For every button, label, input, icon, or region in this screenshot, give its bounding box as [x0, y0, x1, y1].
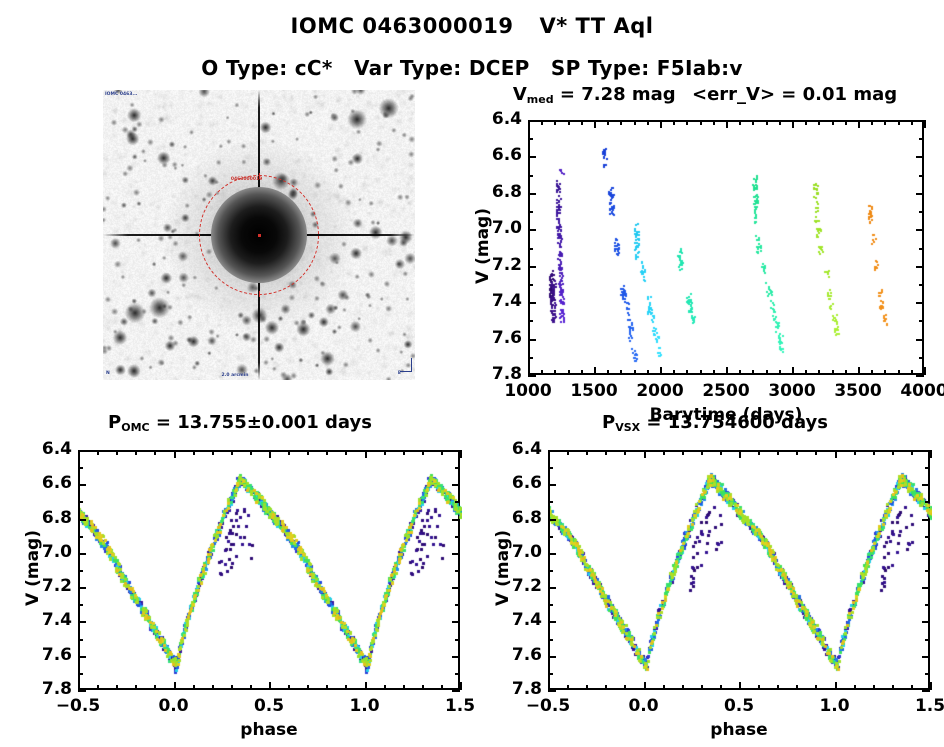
x-tick-mark [739, 682, 741, 690]
x-tick-label: 0.0 [129, 696, 219, 716]
y-minor-tick-right [925, 639, 930, 641]
y-tick-mark-right [922, 587, 930, 589]
x-minor-tick-top [116, 450, 118, 455]
y-minor-tick-right [925, 604, 930, 606]
x-minor-tick-top [567, 450, 569, 455]
y-tick-mark-right [922, 621, 930, 623]
x-minor-tick-top [231, 450, 233, 455]
y-tick-label: 7.0 [490, 542, 542, 562]
y-tick-mark-right [916, 302, 924, 304]
y-tick-mark-right [922, 519, 930, 521]
x-minor-tick [97, 685, 99, 690]
x-tick-mark-top [528, 120, 530, 128]
x-minor-tick-top [713, 120, 715, 125]
x-minor-tick-top [135, 450, 137, 455]
y-minor-tick [548, 536, 553, 538]
x-minor-tick [686, 370, 688, 375]
y-tick-label: 6.8 [470, 182, 522, 202]
y-tick-label: 7.4 [20, 610, 72, 630]
x-tick-mark [548, 682, 550, 690]
x-tick-label: 0.5 [694, 696, 784, 716]
barytime-lightcurve-plot[interactable]: V (mag) Barytime (days) 6.46.66.87.07.27… [470, 110, 944, 400]
y-tick-label: 7.6 [470, 328, 522, 348]
fits-scalebar-label: 2.0 arcmin [222, 373, 249, 378]
x-minor-tick [682, 685, 684, 690]
y-minor-tick [528, 248, 533, 250]
y-minor-tick [78, 501, 83, 503]
y-tick-mark [548, 519, 556, 521]
y-tick-mark [528, 302, 536, 304]
x-tick-mark [594, 367, 596, 375]
x-minor-tick-top [779, 120, 781, 125]
x-minor-tick [720, 685, 722, 690]
sp-type-label: SP Type: [551, 56, 650, 80]
x-minor-tick-top [752, 120, 754, 125]
x-minor-tick [554, 370, 556, 375]
x-minor-tick-top [288, 450, 290, 455]
phase-omc-data-points [80, 452, 462, 692]
x-minor-tick [154, 685, 156, 690]
x-minor-tick-top [212, 450, 214, 455]
orientation-arrow-north [411, 358, 412, 372]
x-minor-tick-top [777, 450, 779, 455]
y-tick-mark [78, 587, 86, 589]
vmed-subscript: med [527, 93, 554, 106]
y-minor-tick-right [455, 673, 460, 675]
y-tick-mark-right [452, 519, 460, 521]
x-minor-tick-top [193, 450, 195, 455]
x-minor-tick [713, 370, 715, 375]
x-minor-tick [607, 370, 609, 375]
fits-north-label: N [106, 371, 110, 376]
x-tick-label: 0.5 [224, 696, 314, 716]
var-type-value: DCEP [469, 56, 530, 80]
y-minor-tick-right [455, 501, 460, 503]
phase-omc-plot[interactable]: V (mag) phase 6.46.66.87.07.27.47.67.8 −… [8, 440, 468, 740]
x-minor-tick [441, 685, 443, 690]
x-minor-tick [581, 370, 583, 375]
x-minor-tick-top [403, 450, 405, 455]
y-minor-tick-right [925, 570, 930, 572]
x-tick-mark-top [858, 120, 860, 128]
x-minor-tick-top [441, 450, 443, 455]
y-tick-mark [548, 656, 556, 658]
x-minor-tick [403, 685, 405, 690]
x-minor-tick-top [326, 450, 328, 455]
phase-omc-plot-frame [78, 450, 460, 690]
x-minor-tick [777, 685, 779, 690]
sp-type-value: F5Iab:v [657, 56, 743, 80]
y-tick-mark-right [916, 193, 924, 195]
x-tick-label: 0.0 [599, 696, 689, 716]
x-tick-label: 4000 [879, 381, 944, 401]
x-minor-tick-top [911, 120, 913, 125]
y-tick-label: 7.2 [20, 576, 72, 596]
x-minor-tick [624, 685, 626, 690]
x-minor-tick-top [422, 450, 424, 455]
pomc-symbol: P [108, 412, 121, 433]
y-minor-tick [528, 211, 533, 213]
y-minor-tick [548, 604, 553, 606]
y-tick-mark-right [916, 375, 924, 377]
y-tick-mark [78, 484, 86, 486]
y-tick-label: 7.6 [20, 645, 72, 665]
x-minor-tick [605, 685, 607, 690]
y-tick-mark [548, 621, 556, 623]
x-tick-mark-top [460, 450, 462, 458]
x-minor-tick-top [647, 120, 649, 125]
x-minor-tick [422, 685, 424, 690]
y-minor-tick-right [455, 536, 460, 538]
o-type-value: cC* [295, 56, 333, 80]
y-tick-label: 7.4 [490, 610, 542, 630]
x-minor-tick [326, 685, 328, 690]
x-minor-tick-top [832, 120, 834, 125]
y-minor-tick [548, 639, 553, 641]
x-minor-tick [250, 685, 252, 690]
y-minor-tick [548, 501, 553, 503]
x-tick-label: 1.0 [790, 696, 880, 716]
y-tick-mark [528, 229, 536, 231]
x-minor-tick-top [634, 120, 636, 125]
y-tick-mark [78, 519, 86, 521]
x-minor-tick-top [250, 450, 252, 455]
x-minor-tick-top [568, 120, 570, 125]
phase-vsx-plot-frame [548, 450, 930, 690]
x-tick-mark-top [174, 450, 176, 458]
lightcurve-data-points [530, 122, 926, 377]
y-minor-tick-right [919, 138, 924, 140]
x-minor-tick [673, 370, 675, 375]
x-minor-tick [911, 370, 913, 375]
x-minor-tick [752, 370, 754, 375]
x-tick-mark-top [924, 120, 926, 128]
x-tick-mark [726, 367, 728, 375]
y-tick-label: 7.6 [490, 645, 542, 665]
x-minor-tick-top [796, 450, 798, 455]
x-minor-tick [884, 370, 886, 375]
y-tick-label: 6.4 [20, 439, 72, 459]
y-tick-mark [548, 553, 556, 555]
x-minor-tick [739, 370, 741, 375]
x-minor-tick-top [739, 120, 741, 125]
y-tick-mark [528, 156, 536, 158]
fits-finder-chart[interactable]: 0463000019 IOMC 0463... 2.0 arcmin N E [103, 90, 415, 380]
vmed-symbol: V [513, 84, 527, 105]
y-minor-tick [528, 175, 533, 177]
x-minor-tick-top [805, 120, 807, 125]
y-tick-mark [528, 266, 536, 268]
o-type-label: O Type: [201, 56, 287, 80]
lightcurve-y-axis-label: V (mag) [473, 186, 493, 306]
x-tick-mark-top [548, 450, 550, 458]
x-minor-tick [116, 685, 118, 690]
x-minor-tick [568, 370, 570, 375]
x-minor-tick [796, 685, 798, 690]
y-minor-tick-right [455, 604, 460, 606]
x-minor-tick [892, 685, 894, 690]
x-minor-tick [541, 370, 543, 375]
y-tick-mark-right [916, 266, 924, 268]
x-tick-mark [930, 682, 932, 690]
y-minor-tick [78, 639, 83, 641]
fits-corner-label: IOMC 0463... [105, 92, 138, 97]
x-minor-tick [586, 685, 588, 690]
y-tick-mark-right [452, 553, 460, 555]
y-tick-mark [528, 339, 536, 341]
x-minor-tick [898, 370, 900, 375]
x-tick-label: 1.0 [320, 696, 410, 716]
pomc-value: = 13.755±0.001 days [156, 412, 372, 433]
x-minor-tick-top [854, 450, 856, 455]
vmed-value: = 7.28 mag [560, 84, 676, 105]
y-tick-mark [548, 484, 556, 486]
y-minor-tick-right [925, 673, 930, 675]
y-tick-label: 6.6 [470, 145, 522, 165]
x-tick-mark [365, 682, 367, 690]
y-tick-mark-right [922, 656, 930, 658]
x-minor-tick-top [884, 120, 886, 125]
x-minor-tick-top [663, 450, 665, 455]
x-minor-tick-top [686, 120, 688, 125]
x-minor-tick [815, 685, 817, 690]
x-tick-mark [78, 682, 80, 690]
x-minor-tick-top [624, 450, 626, 455]
phase-vsx-plot[interactable]: V (mag) phase 6.46.66.87.07.27.47.67.8 −… [478, 440, 940, 740]
y-minor-tick-right [455, 467, 460, 469]
x-minor-tick [701, 685, 703, 690]
y-tick-label: 6.6 [20, 473, 72, 493]
y-minor-tick [78, 467, 83, 469]
x-minor-tick [854, 685, 856, 690]
y-minor-tick [548, 570, 553, 572]
y-tick-label: 6.6 [490, 473, 542, 493]
x-tick-mark-top [835, 450, 837, 458]
x-tick-mark-top [739, 450, 741, 458]
y-tick-mark [78, 621, 86, 623]
x-minor-tick [567, 685, 569, 690]
y-tick-mark-right [452, 450, 460, 452]
x-minor-tick [231, 685, 233, 690]
x-minor-tick [779, 370, 781, 375]
x-tick-label: 1.5 [885, 696, 944, 716]
y-tick-mark [78, 690, 86, 692]
x-tick-label: −0.5 [503, 696, 593, 716]
x-minor-tick [911, 685, 913, 690]
x-tick-mark [644, 682, 646, 690]
x-minor-tick [663, 685, 665, 690]
x-minor-tick [634, 370, 636, 375]
x-minor-tick [193, 685, 195, 690]
lightcurve-plot-frame [528, 120, 924, 375]
x-minor-tick [212, 685, 214, 690]
x-tick-mark [460, 682, 462, 690]
x-tick-mark-top [660, 120, 662, 128]
pomc-subscript: OMC [121, 421, 149, 434]
y-minor-tick-right [925, 501, 930, 503]
x-minor-tick-top [873, 450, 875, 455]
x-tick-mark-top [930, 450, 932, 458]
y-tick-mark [548, 587, 556, 589]
x-minor-tick-top [581, 120, 583, 125]
fits-target-label: 0463000019 [231, 177, 262, 182]
x-minor-tick [135, 685, 137, 690]
x-minor-tick [700, 370, 702, 375]
y-minor-tick [528, 138, 533, 140]
object-classification: O Type: cC* Var Type: DCEP SP Type: F5Ia… [0, 56, 944, 80]
x-minor-tick [873, 685, 875, 690]
y-minor-tick-right [925, 467, 930, 469]
page-title: IOMC 0463000019V* TT Aql [0, 14, 944, 38]
y-tick-mark-right [922, 484, 930, 486]
y-tick-label: 7.0 [470, 218, 522, 238]
y-tick-mark-right [452, 587, 460, 589]
y-tick-mark-right [922, 450, 930, 452]
y-tick-mark-right [922, 553, 930, 555]
y-minor-tick-right [919, 284, 924, 286]
x-minor-tick-top [818, 120, 820, 125]
phase-vsx-x-axis-label: phase [548, 720, 930, 740]
x-tick-mark [924, 367, 926, 375]
x-minor-tick-top [845, 120, 847, 125]
phase-omc-panel-title: POMC = 13.755±0.001 days [20, 412, 460, 433]
y-tick-mark-right [452, 621, 460, 623]
lightcurve-panel-title: Vmed = 7.28 mag <err_V> = 0.01 mag [470, 84, 940, 105]
y-minor-tick-right [925, 536, 930, 538]
x-tick-mark-top [269, 450, 271, 458]
x-minor-tick-top [700, 120, 702, 125]
x-minor-tick-top [758, 450, 760, 455]
x-tick-mark [660, 367, 662, 375]
x-minor-tick-top [898, 120, 900, 125]
x-tick-mark [858, 367, 860, 375]
y-tick-label: 7.2 [470, 255, 522, 275]
y-tick-mark-right [916, 120, 924, 122]
x-minor-tick [647, 370, 649, 375]
x-tick-mark-top [644, 450, 646, 458]
x-minor-tick-top [682, 450, 684, 455]
y-tick-label: 6.8 [490, 508, 542, 528]
y-minor-tick [548, 467, 553, 469]
y-tick-mark [528, 375, 536, 377]
x-minor-tick-top [307, 450, 309, 455]
x-minor-tick [805, 370, 807, 375]
x-minor-tick-top [620, 120, 622, 125]
y-tick-mark [78, 656, 86, 658]
y-tick-mark [528, 193, 536, 195]
phase-omc-x-axis-label: phase [78, 720, 460, 740]
errv-value: <err_V> = 0.01 mag [692, 84, 897, 105]
x-tick-mark [835, 682, 837, 690]
y-minor-tick-right [919, 175, 924, 177]
x-minor-tick [307, 685, 309, 690]
x-minor-tick [288, 685, 290, 690]
x-minor-tick-top [720, 450, 722, 455]
y-tick-label: 7.4 [470, 291, 522, 311]
x-tick-mark-top [726, 120, 728, 128]
y-tick-mark-right [452, 484, 460, 486]
x-tick-mark [269, 682, 271, 690]
x-minor-tick [818, 370, 820, 375]
x-minor-tick-top [673, 120, 675, 125]
y-minor-tick-right [455, 639, 460, 641]
y-tick-mark-right [916, 339, 924, 341]
y-minor-tick [528, 284, 533, 286]
x-tick-mark-top [792, 120, 794, 128]
x-minor-tick-top [892, 450, 894, 455]
x-minor-tick [620, 370, 622, 375]
x-minor-tick [832, 370, 834, 375]
x-minor-tick-top [554, 120, 556, 125]
x-minor-tick [384, 685, 386, 690]
y-minor-tick [78, 536, 83, 538]
x-tick-mark [792, 367, 794, 375]
phase-vsx-data-points [550, 452, 932, 692]
y-tick-mark-right [916, 156, 924, 158]
y-tick-label: 7.2 [490, 576, 542, 596]
y-minor-tick-right [919, 211, 924, 213]
y-tick-label: 7.0 [20, 542, 72, 562]
y-minor-tick [528, 357, 533, 359]
object-name: V* TT Aql [539, 14, 653, 38]
aperture-tick-bottom [259, 291, 260, 297]
x-minor-tick-top [541, 120, 543, 125]
x-tick-mark-top [365, 450, 367, 458]
y-minor-tick [78, 604, 83, 606]
y-minor-tick-right [919, 357, 924, 359]
x-minor-tick [871, 370, 873, 375]
y-minor-tick [78, 673, 83, 675]
x-tick-mark [174, 682, 176, 690]
target-center-marker [258, 234, 261, 237]
y-tick-label: 6.8 [20, 508, 72, 528]
x-minor-tick [766, 370, 768, 375]
y-tick-mark [548, 690, 556, 692]
y-minor-tick [78, 570, 83, 572]
fits-star-field-image: 0463000019 IOMC 0463... 2.0 arcmin N E [103, 90, 415, 380]
x-minor-tick [345, 685, 347, 690]
y-tick-mark-right [452, 656, 460, 658]
y-tick-label: 6.4 [470, 109, 522, 129]
x-minor-tick-top [911, 450, 913, 455]
var-type-label: Var Type: [354, 56, 462, 80]
y-minor-tick-right [919, 320, 924, 322]
y-tick-mark [78, 553, 86, 555]
x-minor-tick-top [97, 450, 99, 455]
y-tick-mark-right [916, 229, 924, 231]
y-tick-label: 6.4 [490, 439, 542, 459]
x-minor-tick-top [701, 450, 703, 455]
x-minor-tick [845, 370, 847, 375]
x-minor-tick-top [605, 450, 607, 455]
y-minor-tick-right [919, 248, 924, 250]
x-minor-tick-top [766, 120, 768, 125]
x-minor-tick-top [607, 120, 609, 125]
x-minor-tick-top [871, 120, 873, 125]
x-tick-mark-top [78, 450, 80, 458]
x-minor-tick-top [154, 450, 156, 455]
lightcurve-x-axis-label: Barytime (days) [528, 405, 924, 425]
x-tick-mark [528, 367, 530, 375]
x-tick-label: −0.5 [33, 696, 123, 716]
y-tick-mark-right [922, 690, 930, 692]
x-minor-tick [758, 685, 760, 690]
x-tick-mark-top [594, 120, 596, 128]
object-id: IOMC 0463000019 [291, 14, 514, 38]
x-minor-tick-top [586, 450, 588, 455]
y-tick-mark-right [452, 690, 460, 692]
x-minor-tick-top [815, 450, 817, 455]
